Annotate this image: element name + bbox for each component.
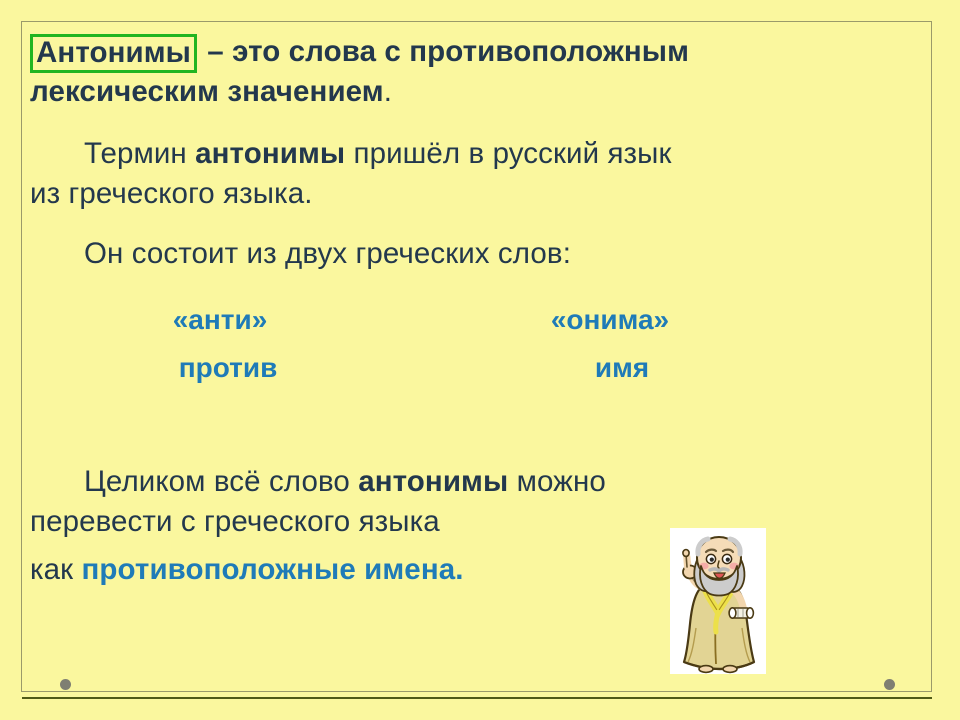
definition-line2: лексическим значением bbox=[30, 75, 384, 108]
greek-word-onima: «онима» bbox=[410, 304, 800, 336]
translate-line1-suffix: можно bbox=[508, 465, 606, 498]
origin-term-antonyms: антонимы bbox=[195, 137, 345, 170]
origin-line1-suffix: пришёл в русский язык bbox=[345, 137, 671, 170]
translate-term-antonyms: антонимы bbox=[358, 465, 508, 498]
philosopher-icon bbox=[670, 528, 766, 674]
footer-dot-left bbox=[60, 679, 71, 690]
greek-word-protiv: против bbox=[30, 352, 418, 384]
paragraph-translate-line3: как противоположные имена. bbox=[30, 550, 928, 590]
term-antonyms-boxed: Антонимы bbox=[30, 34, 197, 73]
greek-word-anti: «анти» bbox=[30, 304, 410, 336]
translate-line2: перевести с греческого языка bbox=[30, 505, 440, 538]
consists-text: Он состоит из двух греческих слов: bbox=[84, 237, 571, 270]
scroll bbox=[729, 608, 753, 618]
footer-rule bbox=[22, 697, 932, 699]
origin-line1-prefix: Термин bbox=[84, 137, 195, 170]
greek-words-block: «анти» «онима» против имя bbox=[30, 304, 790, 400]
paragraph-translate: Целиком всё слово антонимы можно bbox=[30, 462, 928, 502]
greek-words-row-translation: против имя bbox=[30, 352, 790, 384]
translate-line3-prefix: как bbox=[30, 553, 81, 586]
translate-result-phrase: противоположные имена. bbox=[81, 553, 463, 586]
paragraph-origin-line2: из греческого языка. bbox=[30, 174, 928, 214]
definition-period: . bbox=[384, 75, 392, 108]
paragraph-origin: Термин антонимы пришёл в русский язык bbox=[30, 134, 928, 174]
paragraph-definition: Антонимы – это слова с противоположным л… bbox=[30, 32, 928, 112]
paragraph-consists: Он состоит из двух греческих слов: bbox=[30, 234, 928, 274]
greek-philosopher-illustration bbox=[670, 528, 766, 674]
greek-words-row-original: «анти» «онима» bbox=[30, 304, 790, 336]
footer-dot-right bbox=[884, 679, 895, 690]
greek-word-imya: имя bbox=[418, 352, 812, 384]
translate-line1-prefix: Целиком всё слово bbox=[84, 465, 358, 498]
origin-line2: из греческого языка. bbox=[30, 177, 313, 210]
definition-line1-rest: – это слова с противоположным bbox=[199, 35, 689, 68]
paragraph-translate-line2: перевести с греческого языка bbox=[30, 502, 928, 542]
